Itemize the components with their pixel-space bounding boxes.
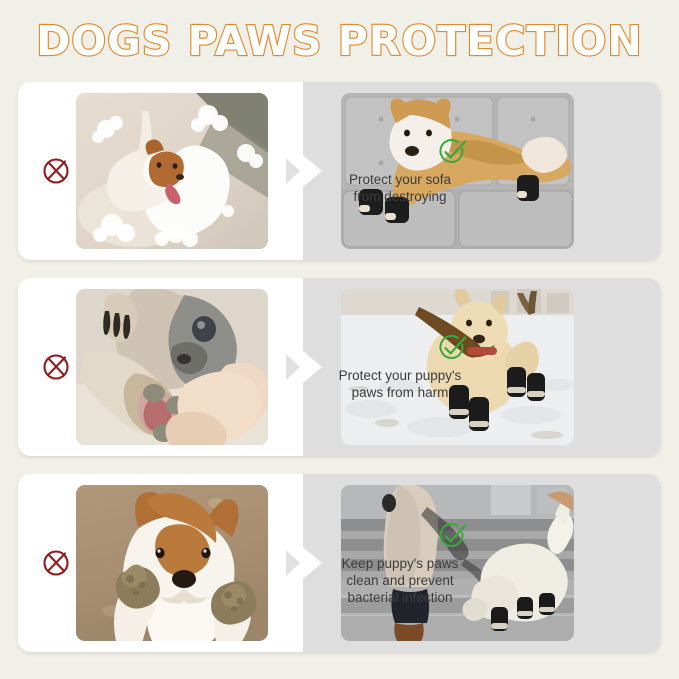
bad-example-side bbox=[18, 82, 303, 260]
page-title: DOGS PAWS PROTECTION bbox=[0, 18, 679, 70]
benefit-message-text: Keep puppy's paws clean and prevent bact… bbox=[319, 555, 481, 606]
good-example-side: Protect your sofa from destroying bbox=[303, 82, 661, 260]
comparison-panel: Keep puppy's paws clean and prevent bact… bbox=[18, 474, 661, 652]
x-circle-icon bbox=[40, 351, 72, 383]
chevron-right-icon bbox=[303, 547, 322, 579]
chevron-right-icon bbox=[303, 155, 322, 187]
bad-example-side bbox=[18, 278, 303, 456]
benefit-message: Protect your puppy's paws from harm bbox=[319, 333, 481, 401]
bad-example-photo bbox=[76, 289, 268, 445]
chevron-right-icon-shadow bbox=[286, 550, 300, 576]
comparison-panel: Protect your puppy's paws from harm bbox=[18, 278, 661, 456]
chevron-right-icon bbox=[303, 351, 322, 383]
check-circle-icon bbox=[437, 521, 467, 551]
page-title-text: DOGS PAWS PROTECTION bbox=[36, 18, 642, 64]
x-circle-icon bbox=[40, 155, 72, 187]
benefit-message-text: Protect your puppy's paws from harm bbox=[319, 367, 481, 401]
comparison-panel: Protect your sofa from destroying bbox=[18, 82, 661, 260]
bad-example-photo bbox=[76, 93, 268, 249]
check-circle-icon bbox=[437, 137, 467, 167]
bad-example-photo bbox=[76, 485, 268, 641]
x-circle-icon bbox=[40, 547, 72, 579]
bad-example-side bbox=[18, 474, 303, 652]
benefit-message: Protect your sofa from destroying bbox=[319, 137, 481, 205]
chevron-right-icon-shadow bbox=[286, 158, 300, 184]
benefit-message: Keep puppy's paws clean and prevent bact… bbox=[319, 521, 481, 606]
chevron-right-icon-shadow bbox=[286, 354, 300, 380]
good-example-side: Keep puppy's paws clean and prevent bact… bbox=[303, 474, 661, 652]
good-example-side: Protect your puppy's paws from harm bbox=[303, 278, 661, 456]
check-circle-icon bbox=[437, 333, 467, 363]
benefit-message-text: Protect your sofa from destroying bbox=[319, 171, 481, 205]
infographic-page: DOGS PAWS PROTECTION bbox=[0, 0, 679, 679]
